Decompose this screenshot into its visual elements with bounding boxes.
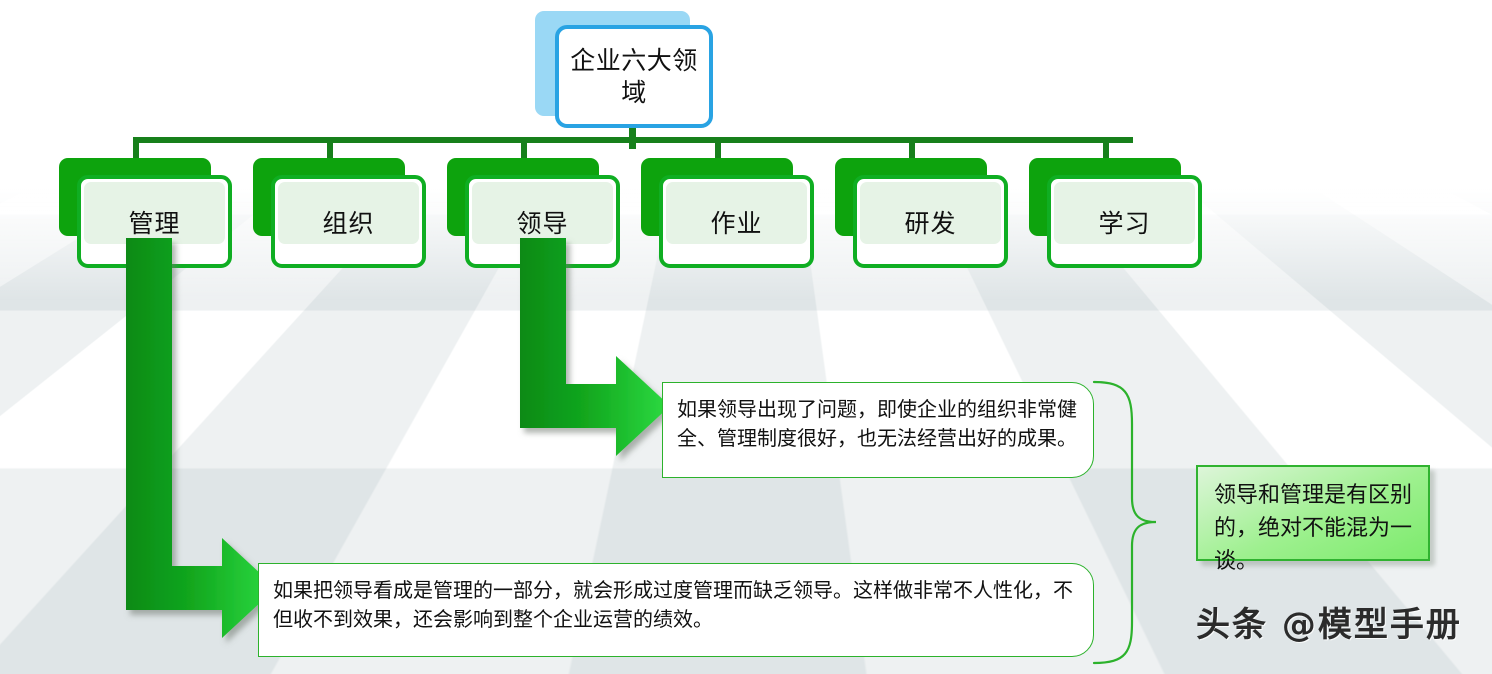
- branch-node-label: 作业: [659, 175, 814, 268]
- callout-management[interactable]: 如果把领导看成是管理的一部分，就会形成过度管理而缺乏领导。这样做非常不人性化，不…: [258, 563, 1094, 657]
- callout-leadership-text: 如果领导出现了问题，即使企业的组织非常健全、管理制度很好，也无法经营出好的成果。: [677, 397, 1077, 450]
- watermark-label: 头条 @模型手册: [1196, 597, 1462, 646]
- root-node[interactable]: 企业六大领域: [555, 25, 713, 128]
- connector-horizontal-bus: [133, 137, 1133, 143]
- elbow-arrow-leadership: [498, 238, 673, 463]
- branch-node-label: 学习: [1047, 175, 1202, 268]
- connector-drop-6: [1103, 137, 1109, 159]
- connector-drop-5: [909, 137, 915, 159]
- curly-brace: [1092, 380, 1202, 665]
- connector-drop-3: [521, 137, 527, 159]
- connector-drop-1: [133, 137, 139, 159]
- connector-drop-2: [327, 137, 333, 159]
- conclusion-box[interactable]: 领导和管理是有区别的，绝对不能混为一谈。: [1196, 465, 1430, 561]
- root-node-label: 企业六大领域: [559, 45, 709, 109]
- connector-drop-4: [715, 137, 721, 159]
- branch-node-label: 组织: [271, 175, 426, 268]
- branch-node-label: 研发: [853, 175, 1008, 268]
- callout-leadership[interactable]: 如果领导出现了问题，即使企业的组织非常健全、管理制度很好，也无法经营出好的成果。: [662, 382, 1094, 478]
- slide-canvas: 企业六大领域 管理 组织 领导 作业: [0, 0, 1492, 674]
- conclusion-text: 领导和管理是有区别的，绝对不能混为一谈。: [1214, 483, 1412, 574]
- callout-management-text: 如果把领导看成是管理的一部分，就会形成过度管理而缺乏领导。这样做非常不人性化，不…: [273, 578, 1073, 631]
- elbow-arrow-management: [104, 238, 279, 650]
